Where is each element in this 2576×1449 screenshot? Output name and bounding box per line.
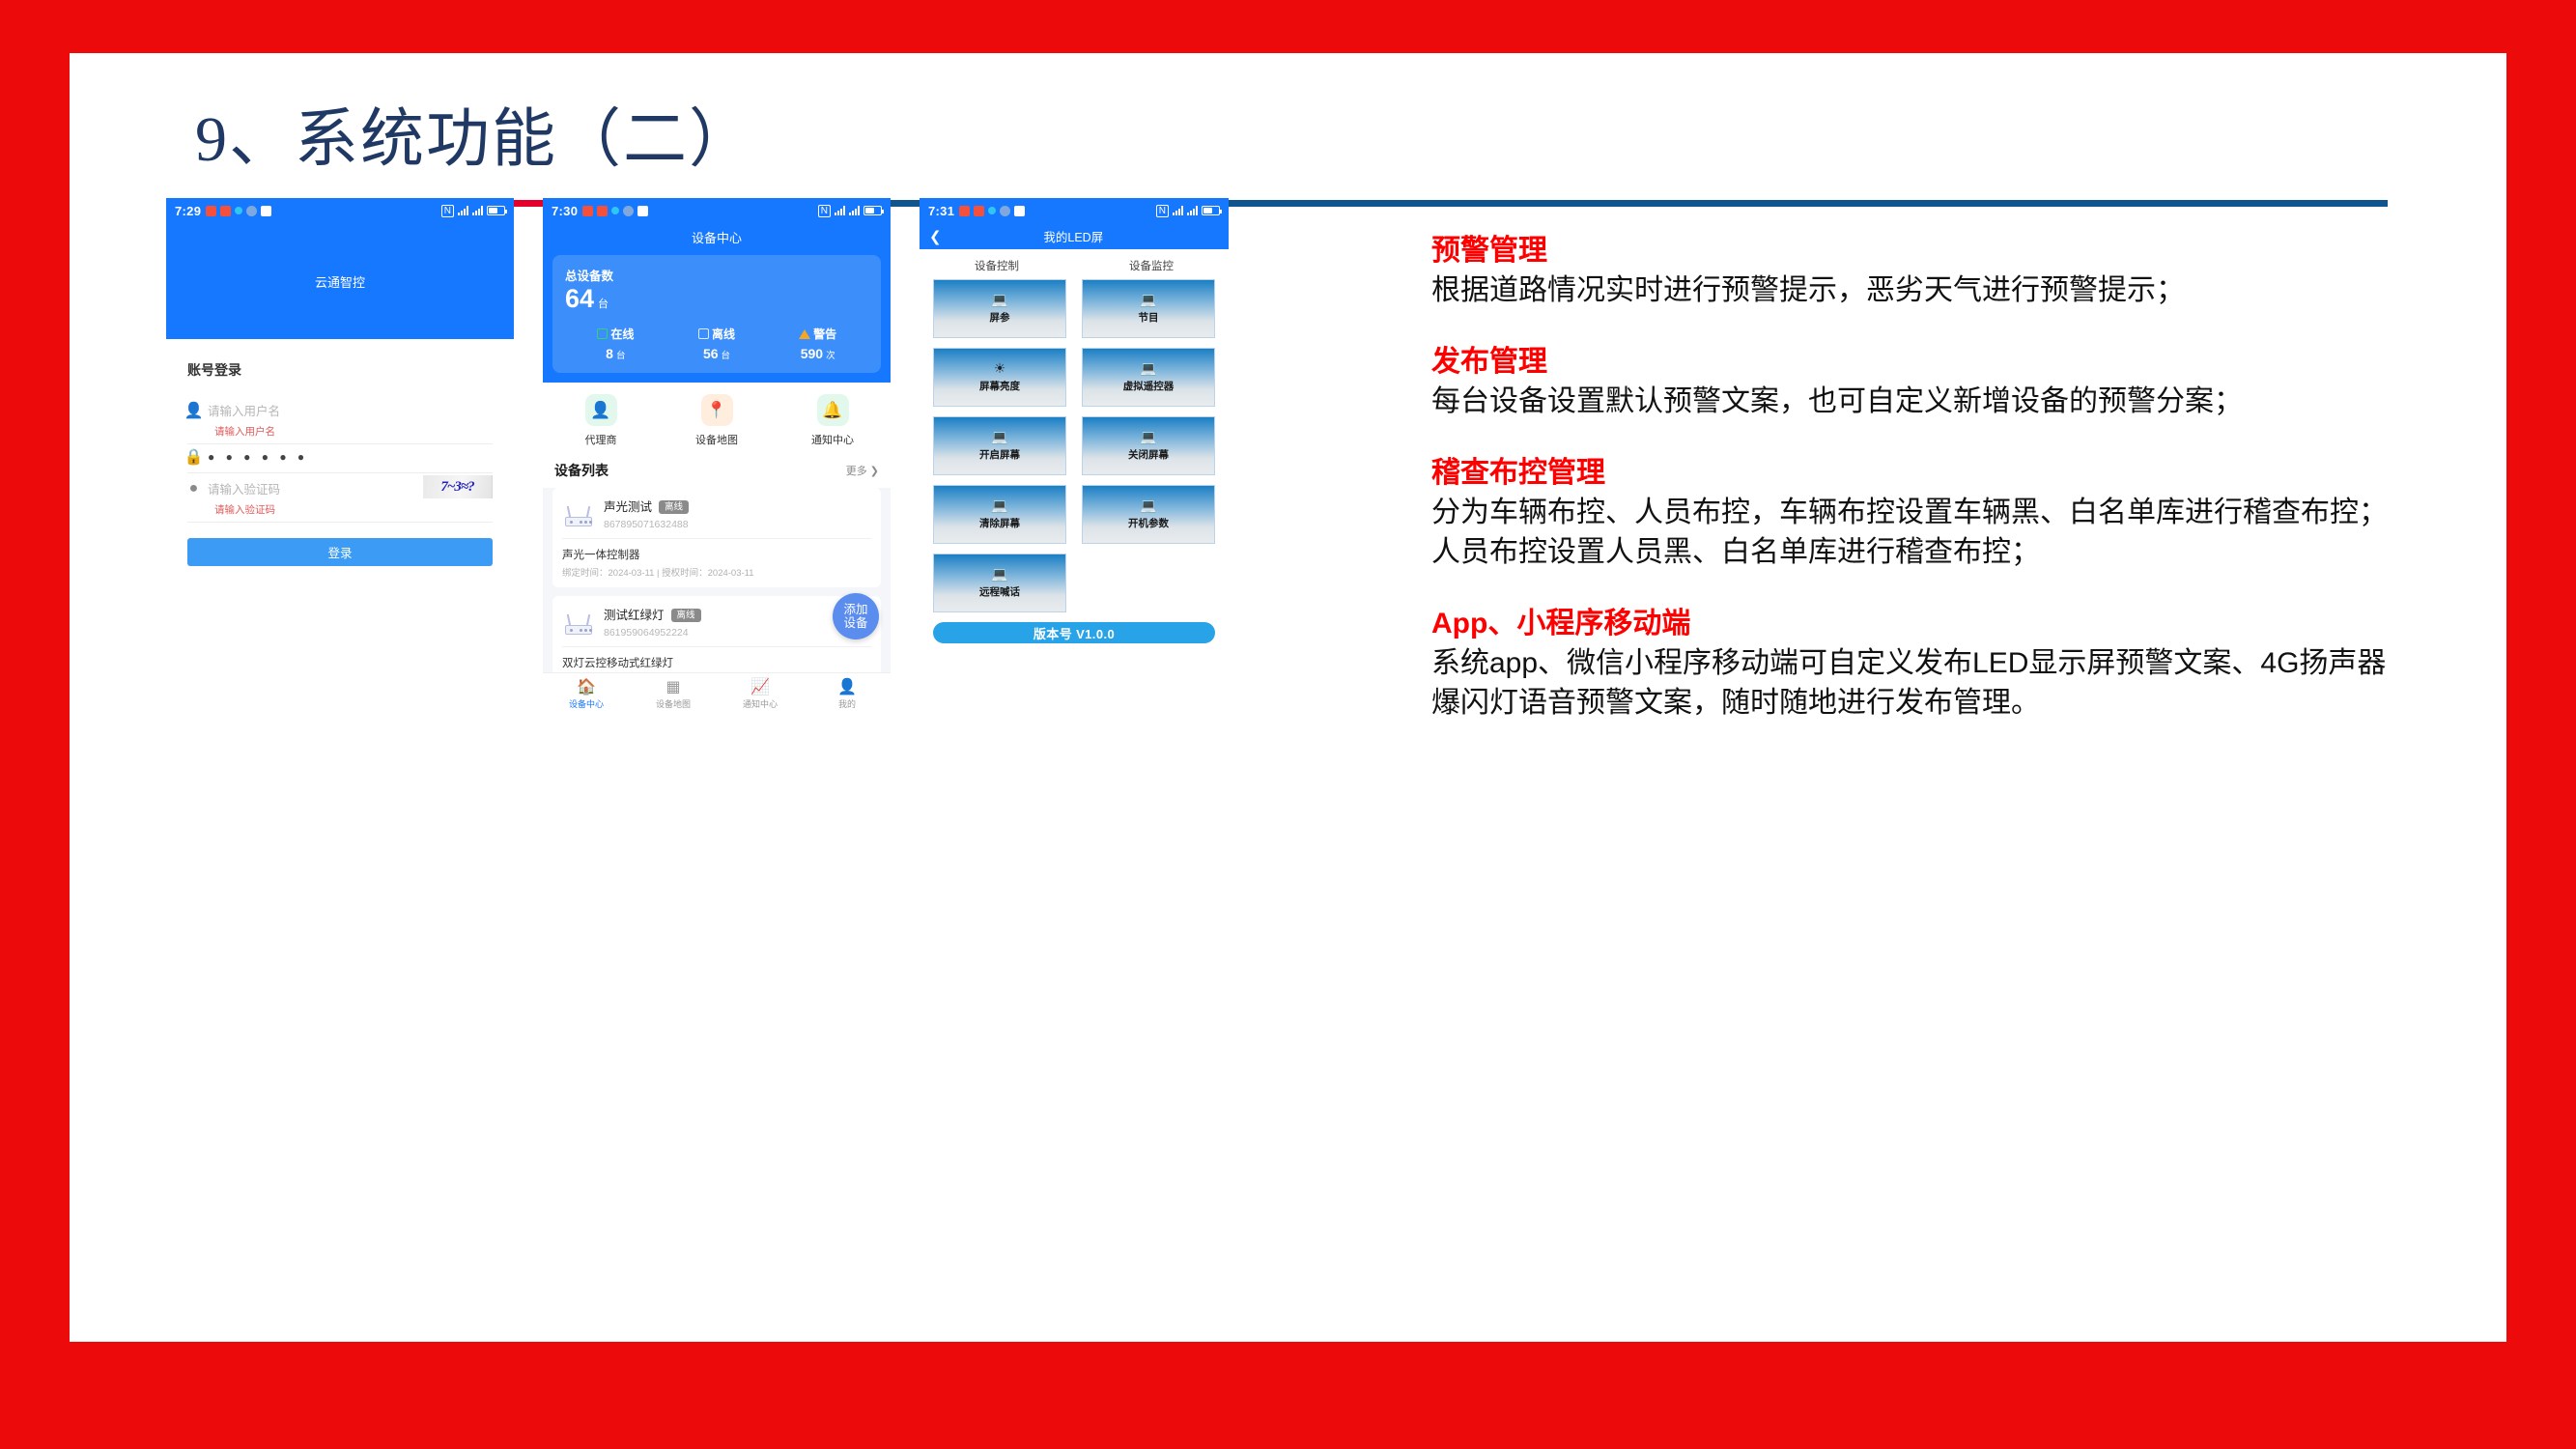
- tile-label: 清除屏幕: [979, 516, 1020, 530]
- status-time: 7:31: [928, 204, 954, 218]
- password-field[interactable]: 🔒 ● ● ● ● ● ●: [187, 444, 493, 468]
- quick-action-label: 通知中心: [775, 432, 891, 447]
- device-list-header: 设备列表 更多 ❯: [543, 455, 891, 488]
- total-devices-number: 64: [565, 284, 594, 313]
- white-app-icon: [1014, 206, 1025, 216]
- monitor-icon: 💻: [991, 430, 1007, 443]
- captcha-error: 请输入验证码: [187, 502, 493, 517]
- circle-app-icon: [623, 206, 634, 216]
- status-app-icons: [959, 206, 1025, 216]
- slide-canvas: 9、系统功能（二） 7:29 N 云通智控 账号: [70, 53, 2506, 1342]
- mail-app-icon: [220, 206, 231, 216]
- section-body: 每台设备设置默认预警文案，也可自定义新增设备的预警分案；: [1431, 382, 2407, 421]
- phone-device-center-screenshot: 7:30 N 设备中心 总设备数: [543, 198, 891, 715]
- led-tile-brightness[interactable]: ☀ 屏幕亮度: [933, 348, 1066, 407]
- signal-icon-1: [1173, 206, 1183, 215]
- login-form: 账号登录 👤 请输入用户名 请输入用户名 🔒 ● ● ● ● ● ● ● 请输入…: [166, 339, 514, 566]
- map-pin-icon: 📍: [701, 394, 733, 426]
- led-nav-bar: ❮ 我的LED屏: [920, 223, 1229, 249]
- dot-app-icon: [235, 207, 242, 214]
- monitor-icon: 💻: [1140, 498, 1156, 512]
- tile-label: 远程喊话: [979, 584, 1020, 599]
- fab-line-1: 添加: [843, 603, 867, 616]
- tile-label: 开机参数: [1128, 516, 1169, 530]
- monitor-icon: 💻: [1140, 293, 1156, 306]
- card-divider: [562, 646, 871, 647]
- signal-icon-1: [458, 206, 468, 215]
- offline-icon: [698, 328, 709, 339]
- mail-app-icon: [974, 206, 984, 216]
- nav-title: 设备中心: [543, 223, 891, 255]
- shield-icon: ●: [187, 482, 200, 495]
- stat-label: 警告: [813, 326, 836, 342]
- led-tile-virtual-remote[interactable]: 💻 虚拟遥控器: [1082, 348, 1215, 407]
- stat-value: 8: [606, 346, 613, 361]
- card-divider: [562, 538, 871, 539]
- phone-led-screenshot: 7:31 N ❮ 我的LED屏 设备控制 设备监控: [920, 198, 1229, 715]
- add-device-button[interactable]: 添加 设备: [833, 593, 879, 639]
- device-list-title: 设备列表: [554, 461, 609, 480]
- tab-label: 设备地图: [630, 697, 717, 710]
- led-tile-program[interactable]: 💻 节目: [1082, 279, 1215, 338]
- total-devices-label: 总设备数: [565, 266, 868, 284]
- led-tile-screen-off[interactable]: 💻 关闭屏幕: [1082, 416, 1215, 475]
- grid-icon: ▦: [630, 679, 717, 696]
- router-icon: [562, 610, 595, 635]
- bottom-tab-bar: 🏠 设备中心 ▦ 设备地图 📈 通知中心 👤 我的: [543, 672, 891, 715]
- nav-title: 我的LED屏: [942, 227, 1205, 245]
- device-id: 861959064952224: [604, 627, 701, 639]
- agent-icon: 👤: [585, 394, 617, 426]
- led-function-grid: 💻 屏参 ☀ 屏幕亮度 💻 开启屏幕 💻 清除屏幕 💻 远程喊话: [920, 279, 1229, 612]
- tile-label: 开启屏幕: [979, 447, 1020, 462]
- password-value: ● ● ● ● ● ●: [208, 450, 308, 464]
- mail-app-icon: [597, 206, 608, 216]
- captcha-placeholder: 请输入验证码: [208, 479, 280, 497]
- monitor-icon: 💻: [991, 498, 1007, 512]
- white-app-icon: [261, 206, 271, 216]
- tab-label: 我的: [804, 697, 891, 710]
- tile-label: 屏幕亮度: [979, 379, 1020, 393]
- led-tile-screen-on[interactable]: 💻 开启屏幕: [933, 416, 1066, 475]
- stat-unit: 台: [616, 351, 626, 361]
- dot-app-icon: [611, 207, 619, 214]
- led-tile-boot-params[interactable]: 💻 开机参数: [1082, 485, 1215, 544]
- phone-app-icon: [959, 206, 970, 216]
- signal-icon-2: [472, 206, 483, 215]
- monitor-icon: 💻: [991, 293, 1007, 306]
- circle-app-icon: [246, 206, 257, 216]
- section-heading: 稽查布控管理: [1431, 454, 2407, 493]
- led-tile-screen-params[interactable]: 💻 屏参: [933, 279, 1066, 338]
- battery-icon: [1202, 206, 1220, 215]
- device-summary-card: 总设备数 64台 在线 8台 离线 56台 警告 590次: [552, 255, 881, 373]
- quick-action-agent[interactable]: 👤 代理商: [543, 394, 659, 447]
- chevron-left-icon[interactable]: ❮: [929, 228, 942, 245]
- dot-app-icon: [988, 207, 996, 214]
- tab-device-center[interactable]: 🏠 设备中心: [543, 679, 630, 710]
- username-placeholder: 请输入用户名: [208, 401, 280, 419]
- tile-label: 屏参: [990, 310, 1010, 325]
- tab-label: 设备中心: [543, 697, 630, 710]
- status-breakdown: 在线 8台 离线 56台 警告 590次: [565, 326, 868, 361]
- stat-unit: 次: [826, 351, 835, 361]
- status-right: N: [441, 205, 505, 217]
- circle-app-icon: [1000, 206, 1010, 216]
- device-list-item[interactable]: 声光测试离线 867895071632488 声光一体控制器 绑定时间：2024…: [552, 488, 881, 587]
- section-heading: App、小程序移动端: [1431, 605, 2407, 643]
- tab-notification-center[interactable]: 📈 通知中心: [717, 679, 804, 710]
- stat-value: 590: [801, 346, 823, 361]
- stat-label: 在线: [610, 326, 634, 342]
- device-meta: 绑定时间：2024-03-11 | 授权时间：2024-03-11: [562, 565, 871, 579]
- device-model: 声光一体控制器: [562, 547, 871, 562]
- nfc-icon: N: [1156, 205, 1169, 217]
- column-header-monitor: 设备监控: [1074, 258, 1229, 273]
- login-form-title: 账号登录: [187, 360, 493, 380]
- status-right: N: [1156, 205, 1220, 217]
- user-icon: 👤: [187, 404, 200, 416]
- status-bar: 7:31 N: [920, 198, 1229, 223]
- section-heading: 发布管理: [1431, 343, 2407, 382]
- status-bar: 7:30 N: [543, 198, 891, 223]
- device-name: 声光测试: [604, 500, 652, 514]
- signal-icon-1: [835, 206, 845, 215]
- warning-icon: [799, 329, 810, 339]
- device-list-more[interactable]: 更多 ❯: [846, 463, 879, 478]
- device-center-header: 7:30 N 设备中心 总设备数: [543, 198, 891, 383]
- fab-line-2: 设备: [843, 616, 867, 630]
- title-divider: [195, 200, 2388, 207]
- version-badge: 版本号 V1.0.0: [933, 622, 1215, 643]
- tab-profile[interactable]: 👤 我的: [804, 679, 891, 710]
- phone-login-screenshot: 7:29 N 云通智控 账号登录 👤 请输入用户名: [166, 198, 514, 681]
- led-monitor-column: 💻 节目 💻 虚拟遥控器 💻 关闭屏幕 💻 开机参数: [1082, 279, 1215, 612]
- quick-action-map[interactable]: 📍 设备地图: [659, 394, 775, 447]
- led-column-headers: 设备控制 设备监控: [920, 249, 1229, 279]
- column-header-control: 设备控制: [920, 258, 1074, 273]
- tab-device-map[interactable]: ▦ 设备地图: [630, 679, 717, 710]
- monitor-icon: 💻: [991, 567, 1007, 581]
- quick-action-label: 设备地图: [659, 432, 775, 447]
- phone-app-icon: [582, 206, 593, 216]
- stat-label: 离线: [712, 326, 735, 342]
- led-control-column: 💻 屏参 ☀ 屏幕亮度 💻 开启屏幕 💻 清除屏幕 💻 远程喊话: [933, 279, 1066, 612]
- stat-online[interactable]: 在线 8台: [565, 326, 666, 361]
- stat-unit: 台: [722, 351, 731, 361]
- battery-icon: [487, 206, 505, 215]
- online-icon: [597, 328, 608, 339]
- router-icon: [562, 501, 595, 526]
- description-column: 预警管理 根据道路情况实时进行预警提示，恶劣天气进行预警提示； 发布管理 每台设…: [1431, 232, 2407, 724]
- more-label: 更多: [846, 466, 867, 477]
- quick-action-label: 代理商: [543, 432, 659, 447]
- device-model: 双灯云控移动式红绿灯: [562, 655, 871, 670]
- captcha-image[interactable]: 7~3≈?: [423, 475, 493, 498]
- page-title: 9、系统功能（二）: [195, 87, 754, 180]
- status-app-icons: [206, 206, 271, 216]
- total-devices-unit: 台: [598, 298, 609, 310]
- captcha-field[interactable]: ● 请输入验证码 7~3≈?: [187, 473, 493, 501]
- signal-icon-2: [1187, 206, 1198, 215]
- signal-icon-2: [849, 206, 860, 215]
- tile-label: 节目: [1139, 310, 1159, 325]
- phone-app-icon: [206, 206, 216, 216]
- username-field[interactable]: 👤 请输入用户名: [187, 395, 493, 423]
- chart-icon: 📈: [717, 679, 804, 696]
- status-time: 7:30: [552, 204, 578, 218]
- quick-action-notifications[interactable]: 🔔 通知中心: [775, 394, 891, 447]
- brand-name: 云通智控: [315, 272, 365, 291]
- status-time: 7:29: [175, 204, 201, 218]
- login-button[interactable]: 登录: [187, 538, 493, 566]
- brightness-icon: ☀: [994, 361, 1006, 375]
- led-tile-remote-speak[interactable]: 💻 远程喊话: [933, 554, 1066, 612]
- total-devices-value: 64台: [565, 286, 868, 312]
- nfc-icon: N: [818, 205, 831, 217]
- nfc-icon: N: [441, 205, 454, 217]
- status-right: N: [818, 205, 882, 217]
- person-icon: 👤: [804, 679, 891, 696]
- status-badge: 离线: [659, 500, 689, 514]
- status-app-icons: [582, 206, 648, 216]
- section-heading: 预警管理: [1431, 232, 2407, 270]
- stat-warning[interactable]: 警告 590次: [767, 326, 868, 361]
- quick-actions: 👤 代理商 📍 设备地图 🔔 通知中心: [543, 383, 891, 455]
- bell-icon: 🔔: [817, 394, 849, 426]
- home-icon: 🏠: [543, 679, 630, 696]
- field-divider: [187, 522, 493, 523]
- device-id: 867895071632488: [604, 519, 689, 530]
- stat-value: 56: [703, 346, 719, 361]
- lock-icon: 🔒: [187, 451, 200, 464]
- stat-offline[interactable]: 离线 56台: [666, 326, 768, 361]
- section-body: 根据道路情况实时进行预警提示，恶劣天气进行预警提示；: [1431, 270, 2407, 310]
- section-body: 系统app、微信小程序移动端可自定义发布LED显示屏预警文案、4G扬声器爆闪灯语…: [1431, 643, 2407, 724]
- status-bar: 7:29 N: [166, 198, 514, 223]
- white-app-icon: [637, 206, 648, 216]
- tile-label: 关闭屏幕: [1128, 447, 1169, 462]
- battery-icon: [863, 206, 882, 215]
- username-error: 请输入用户名: [187, 424, 493, 439]
- tab-label: 通知中心: [717, 697, 804, 710]
- tile-label: 虚拟遥控器: [1123, 379, 1175, 393]
- section-body: 分为车辆布控、人员布控，车辆布控设置车辆黑、白名单库进行稽查布控；人员布控设置人…: [1431, 493, 2407, 573]
- led-tile-clear-screen[interactable]: 💻 清除屏幕: [933, 485, 1066, 544]
- monitor-icon: 💻: [1140, 361, 1156, 375]
- monitor-icon: 💻: [1140, 430, 1156, 443]
- brand-hero: 云通智控: [166, 223, 514, 339]
- device-name: 测试红绿灯: [604, 609, 665, 622]
- status-badge: 离线: [671, 609, 701, 622]
